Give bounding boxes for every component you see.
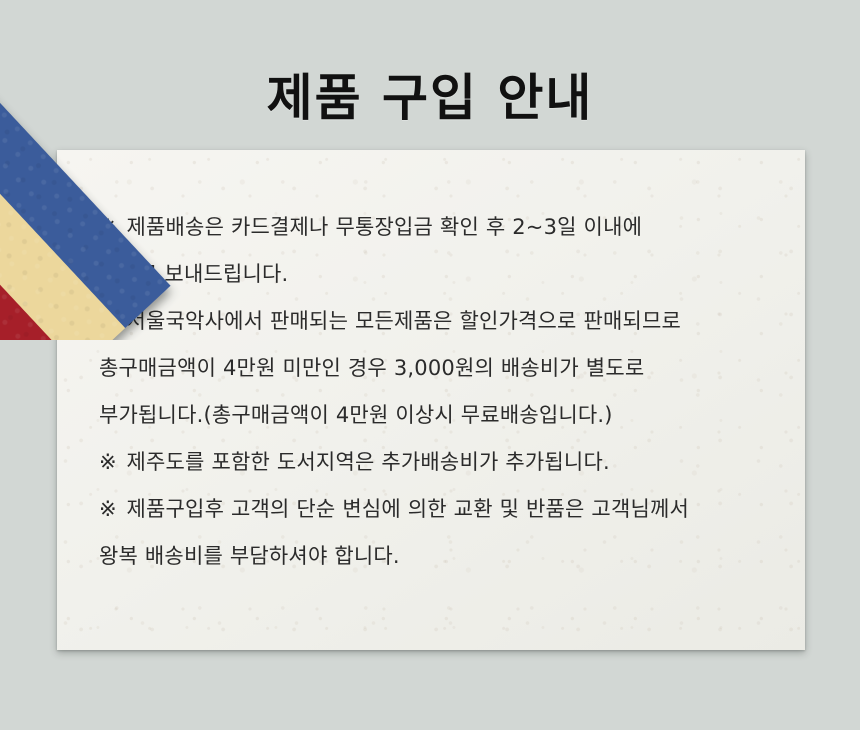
notice-text: 서울국악사에서 판매되는 모든제품은 할인가격으로 판매되므로 <box>127 309 682 333</box>
notice-text: 총구매금액이 4만원 미만인 경우 3,000원의 배송비가 별도로 <box>99 356 644 380</box>
notice-item: ※ 제품배송은 카드결제나 무통장입금 확인 후 2~3일 이내에 <box>99 204 781 251</box>
reference-mark-icon: ※ <box>99 497 120 521</box>
notice-text: 택배로 보내드립니다. <box>99 262 288 286</box>
notice-item-continuation: 왕복 배송비를 부담하셔야 합니다. <box>99 533 781 580</box>
notice-card: ※ 제품배송은 카드결제나 무통장입금 확인 후 2~3일 이내에택배로 보내드… <box>57 150 805 650</box>
reference-mark-icon: ※ <box>99 309 120 333</box>
reference-mark-icon: ※ <box>99 450 120 474</box>
notice-item-continuation: 택배로 보내드립니다. <box>99 251 781 298</box>
product-purchase-guide-page: 제품 구입 안내 ※ 제품배송은 카드결제나 무통장입금 확인 후 2~3일 이… <box>0 0 860 730</box>
notice-item-continuation: 총구매금액이 4만원 미만인 경우 3,000원의 배송비가 별도로 <box>99 345 781 392</box>
page-title: 제품 구입 안내 <box>0 68 860 128</box>
notice-text: 왕복 배송비를 부담하셔야 합니다. <box>99 544 400 568</box>
notice-text: 부가됩니다.(총구매금액이 4만원 이상시 무료배송입니다.) <box>99 403 613 427</box>
notice-list: ※ 제품배송은 카드결제나 무통장입금 확인 후 2~3일 이내에택배로 보내드… <box>99 204 781 580</box>
notice-item: ※ 서울국악사에서 판매되는 모든제품은 할인가격으로 판매되므로 <box>99 298 781 345</box>
notice-text: 제품배송은 카드결제나 무통장입금 확인 후 2~3일 이내에 <box>127 215 643 239</box>
notice-item: ※ 제품구입후 고객의 단순 변심에 의한 교환 및 반품은 고객님께서 <box>99 486 781 533</box>
notice-text: 제주도를 포함한 도서지역은 추가배송비가 추가됩니다. <box>127 450 610 474</box>
notice-item: ※ 제주도를 포함한 도서지역은 추가배송비가 추가됩니다. <box>99 439 781 486</box>
notice-item-continuation: 부가됩니다.(총구매금액이 4만원 이상시 무료배송입니다.) <box>99 392 781 439</box>
notice-text: 제품구입후 고객의 단순 변심에 의한 교환 및 반품은 고객님께서 <box>127 497 690 521</box>
reference-mark-icon: ※ <box>99 215 120 239</box>
